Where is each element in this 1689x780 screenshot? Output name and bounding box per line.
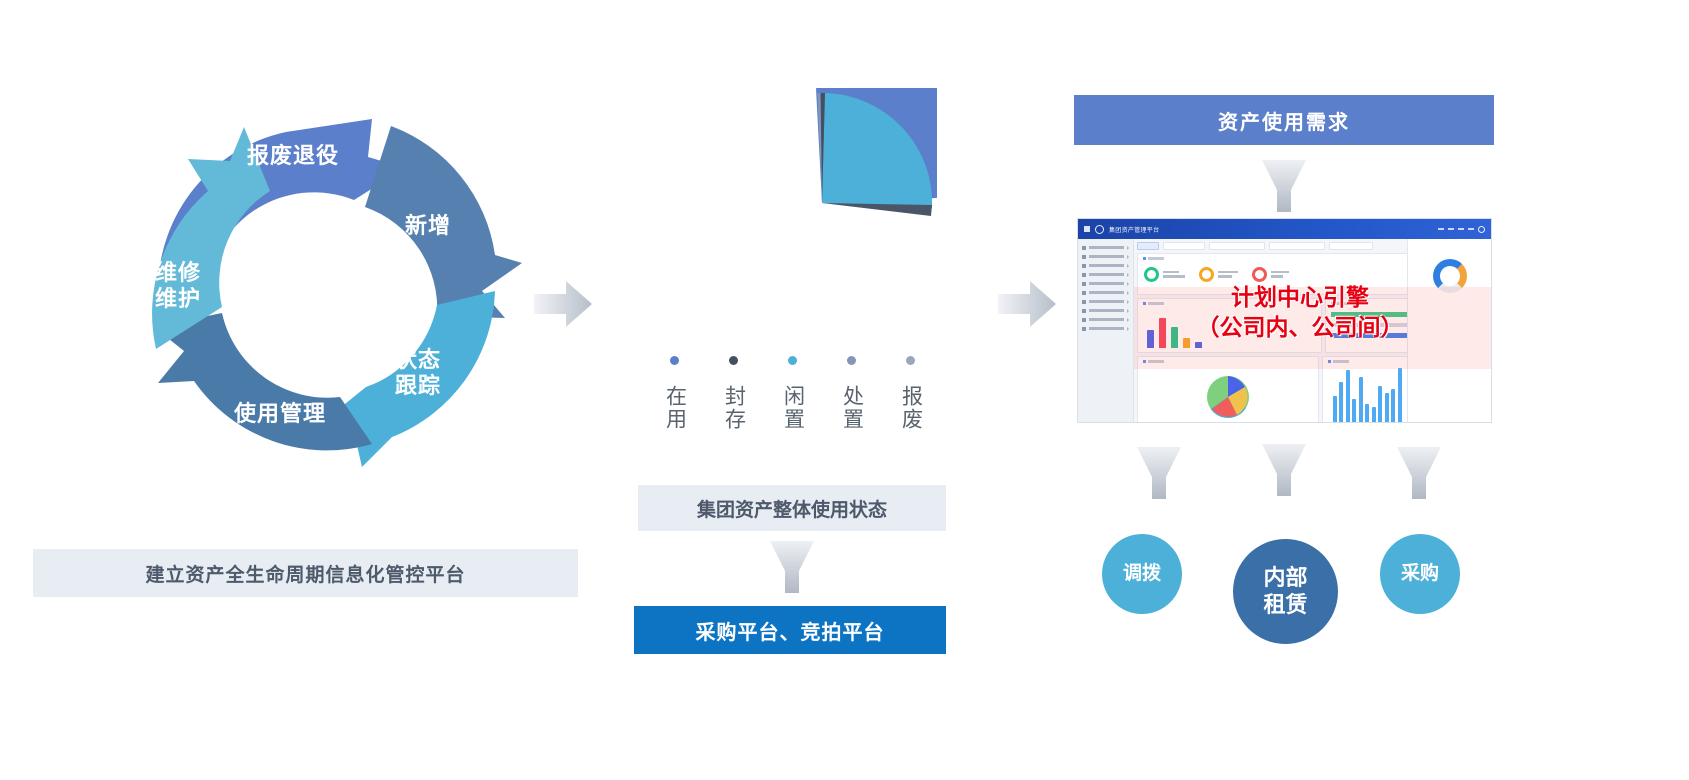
sidebar-item[interactable]	[1078, 279, 1133, 288]
tab-dispose[interactable]	[1329, 242, 1373, 250]
dashboard-title: 集团资产管理平台	[1109, 225, 1159, 234]
chart-icon	[1082, 318, 1086, 322]
scrap-icon	[1082, 309, 1086, 313]
sidebar-item-label	[1089, 282, 1124, 285]
chevron-right-icon	[1127, 264, 1129, 268]
chevron-right-icon	[1127, 273, 1129, 277]
legend-dot-1	[729, 356, 738, 365]
legend-label-2: 闲置	[779, 385, 806, 431]
card-caption	[1143, 360, 1164, 363]
transfer-icon	[1082, 273, 1086, 277]
cycle-segment-usage[interactable]	[154, 313, 372, 450]
logo-icon	[1095, 225, 1104, 234]
tab-ledger[interactable]	[1163, 242, 1205, 250]
chevron-right-icon	[1127, 300, 1129, 304]
legend-item-3[interactable]: 处置	[829, 356, 873, 431]
chevron-right-icon	[1127, 255, 1129, 259]
platform-banner: 建立资产全生命周期信息化管控平台	[33, 549, 578, 597]
dashboard-sidebar[interactable]	[1078, 239, 1134, 422]
gray-arrow-down-icon	[1262, 440, 1306, 505]
sidebar-item-label	[1089, 318, 1124, 321]
kpi-in-use	[1144, 267, 1185, 282]
sidebar-item-label	[1089, 264, 1124, 267]
sidebar-item-label	[1089, 309, 1124, 312]
mini-pie-chart	[1207, 376, 1249, 418]
titlebar-item-icon[interactable]	[1448, 228, 1454, 230]
usage-icon	[1082, 282, 1086, 286]
chevron-right-icon	[1127, 282, 1129, 286]
kpi-idle	[1199, 267, 1238, 282]
plan-engine-line-1: 计划中心引擎	[1150, 282, 1450, 312]
sidebar-item[interactable]	[1078, 306, 1133, 315]
sidebar-item[interactable]	[1078, 252, 1133, 261]
sidebar-item[interactable]	[1078, 324, 1133, 333]
plus-icon	[1082, 264, 1086, 268]
gear-icon	[1082, 327, 1086, 331]
menu-icon[interactable]	[1084, 226, 1090, 232]
sidebar-item-label	[1089, 327, 1124, 330]
chevron-right-icon	[1127, 309, 1129, 313]
card-caption	[1143, 257, 1164, 260]
legend-dot-4	[906, 356, 915, 365]
legend-item-0[interactable]: 在用	[652, 356, 696, 431]
procurement-platform-banner: 采购平台、竞拍平台	[634, 606, 946, 654]
legend-dot-0	[670, 356, 679, 365]
gray-arrow-down-icon	[770, 541, 814, 598]
cycle-arrows-graphic	[110, 95, 530, 495]
titlebar-item-icon[interactable]	[1458, 228, 1464, 230]
lease-icon	[1082, 291, 1086, 295]
tab-transfer[interactable]	[1209, 242, 1265, 250]
book-icon	[1082, 255, 1086, 259]
sidebar-item-label	[1089, 255, 1124, 258]
tab-home[interactable]	[1137, 242, 1159, 250]
plan-engine-overlay-label: 计划中心引擎 （公司内、公司间）	[1150, 282, 1450, 343]
asset-category-pie-card	[1137, 356, 1319, 423]
legend-label-4: 报废	[897, 385, 924, 431]
group-asset-status-banner: 集团资产整体使用状态	[638, 485, 946, 531]
grid-icon	[1082, 246, 1086, 250]
sidebar-item[interactable]	[1078, 297, 1133, 306]
asset-lifecycle-cycle: 报废退役 新增 状态 跟踪 使用管理 维修 维护	[110, 95, 530, 495]
kpi-ring-icon	[1199, 267, 1214, 282]
dashboard-titlebar: 集团资产管理平台	[1078, 219, 1491, 239]
chevron-right-icon	[1127, 291, 1129, 295]
legend-label-0: 在用	[661, 385, 688, 431]
kpi-lines	[1271, 271, 1289, 278]
tab-lease[interactable]	[1269, 242, 1325, 250]
legend-label-3: 处置	[838, 385, 865, 431]
avatar[interactable]	[1478, 226, 1485, 233]
asset-demand-banner: 资产使用需求	[1074, 95, 1494, 145]
sidebar-item-label	[1089, 291, 1124, 294]
legend-item-4[interactable]: 报废	[888, 356, 932, 431]
titlebar-item-icon[interactable]	[1468, 228, 1474, 230]
legend-item-1[interactable]: 封存	[711, 356, 755, 431]
kpi-lines	[1163, 271, 1185, 278]
legend-item-2[interactable]: 闲置	[770, 356, 814, 431]
gray-arrow-down-icon	[1262, 160, 1306, 217]
kpi-lines	[1218, 271, 1238, 278]
chevron-right-icon	[1127, 318, 1129, 322]
gray-arrow-down-icon	[1397, 447, 1441, 504]
sidebar-item[interactable]	[1078, 288, 1133, 297]
diagram-canvas: 报废退役 新增 状态 跟踪 使用管理 维修 维护 建立资产全生命周期信息化管控平…	[0, 0, 1689, 780]
kpi-pending-dispose	[1252, 267, 1289, 282]
dispose-icon	[1082, 300, 1086, 304]
pie-legend: 在用 封存 闲置 处置 报废	[652, 356, 932, 431]
output-circle-purchase[interactable]: 采购	[1380, 534, 1460, 614]
chevron-right-icon	[1127, 327, 1129, 331]
cycle-segment-new[interactable]	[365, 126, 522, 318]
titlebar-item-icon[interactable]	[1438, 228, 1444, 230]
kpi-ring-icon	[1144, 267, 1159, 282]
sidebar-item-label	[1089, 300, 1124, 303]
plan-engine-line-2: （公司内、公司间）	[1150, 312, 1450, 342]
titlebar-actions[interactable]	[1438, 226, 1485, 233]
sidebar-item[interactable]	[1078, 243, 1133, 252]
output-circle-transfer[interactable]: 调拨	[1102, 534, 1182, 614]
legend-dot-3	[847, 356, 856, 365]
sidebar-item[interactable]	[1078, 315, 1133, 324]
asset-status-pie-chart	[707, 88, 937, 318]
output-circle-lease[interactable]: 内部 租赁	[1233, 539, 1338, 644]
sidebar-item-label	[1089, 246, 1124, 249]
chevron-right-icon	[1127, 246, 1129, 250]
gray-arrow-down-icon	[1137, 447, 1181, 504]
sidebar-item[interactable]	[1078, 270, 1133, 279]
legend-dot-2	[788, 356, 797, 365]
kpi-ring-icon	[1252, 267, 1267, 282]
gray-arrow-right-icon	[534, 278, 592, 335]
sidebar-item-label	[1089, 273, 1124, 276]
sidebar-item[interactable]	[1078, 261, 1133, 270]
gray-arrow-right-icon	[998, 278, 1056, 335]
card-caption	[1328, 360, 1349, 363]
legend-label-1: 封存	[720, 385, 747, 431]
